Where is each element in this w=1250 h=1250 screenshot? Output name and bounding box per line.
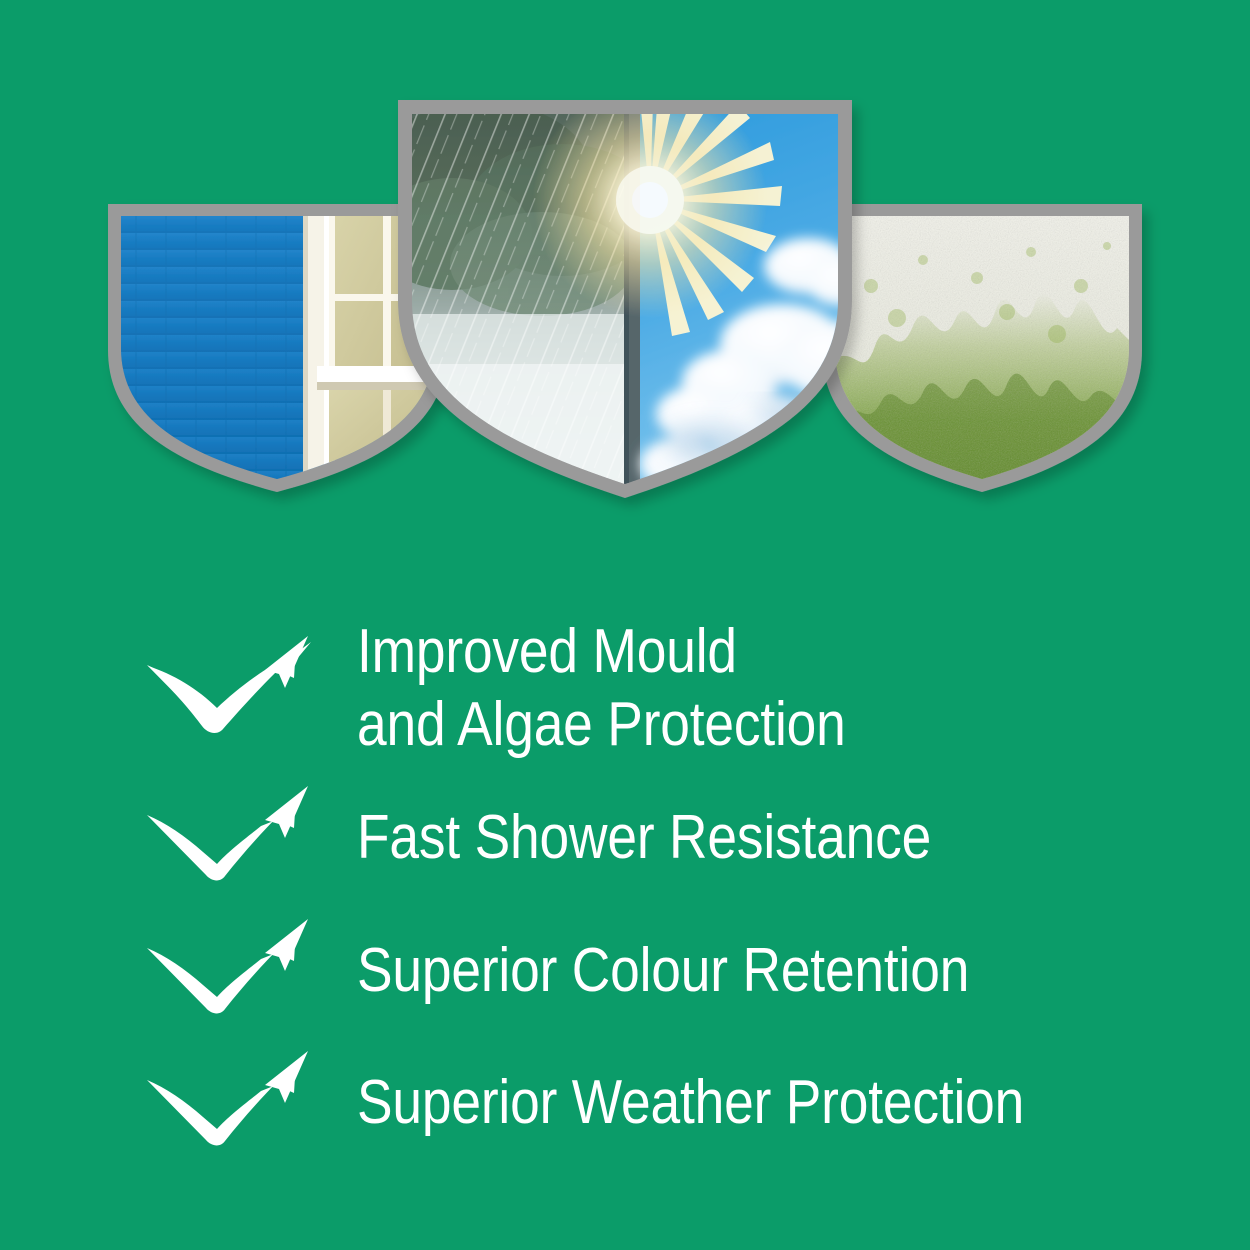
shield-right (822, 204, 1145, 506)
check-arrow-icon (145, 909, 325, 1033)
check-arrow-icon (145, 626, 325, 750)
check-arrow-icon (145, 776, 325, 900)
promo-poster: Improved Mould and Algae Protection Fast… (0, 0, 1250, 1250)
check-arrow-icon (145, 1041, 325, 1165)
shield-group (0, 0, 1250, 540)
benefit-item-shower-resistance: Fast Shower Resistance (0, 770, 1250, 905)
benefit-item-weather-protection: Superior Weather Protection (0, 1040, 1250, 1166)
benefit-label: Fast Shower Resistance (357, 801, 1125, 874)
benefit-item-colour-retention: Superior Colour Retention (0, 908, 1250, 1034)
benefit-list: Improved Mould and Algae Protection Fast… (0, 600, 1250, 1180)
benefit-label: Improved Mould and Algae Protection (357, 615, 1125, 761)
benefit-label: Superior Weather Protection (357, 1066, 1125, 1139)
benefit-label: Superior Colour Retention (357, 934, 1125, 1007)
benefit-item-mould-algae: Improved Mould and Algae Protection (0, 618, 1250, 758)
shield-center (372, 68, 892, 540)
